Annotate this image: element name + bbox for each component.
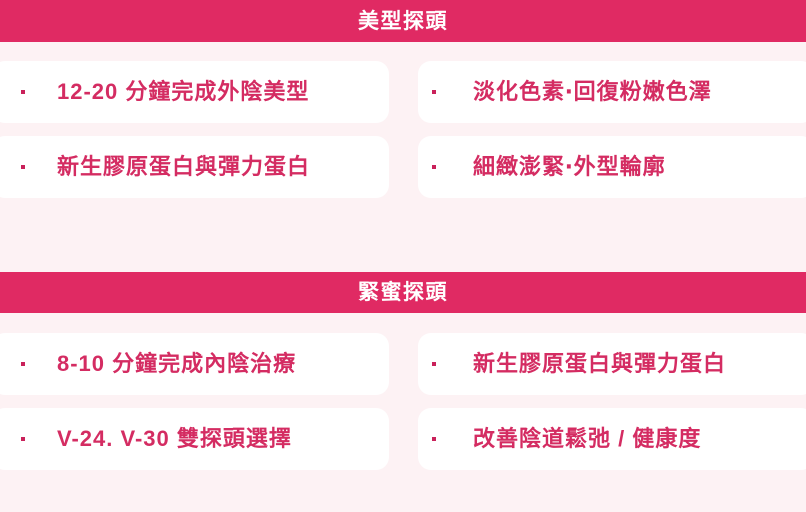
section-header-tightening-probe: 緊蜜探頭 bbox=[0, 272, 806, 313]
bullet-icon bbox=[21, 90, 25, 94]
feature-card-label: 新生膠原蛋白與彈力蛋白 bbox=[473, 352, 726, 376]
feature-card[interactable]: 細緻澎緊‧外型輪廓 bbox=[418, 136, 806, 198]
feature-card-label: 細緻澎緊‧外型輪廓 bbox=[473, 155, 666, 179]
bullet-icon bbox=[21, 165, 25, 169]
feature-card-label: 12-20 分鐘完成外陰美型 bbox=[57, 80, 309, 104]
feature-card[interactable]: 改善陰道鬆弛 / 健康度 bbox=[418, 408, 806, 470]
feature-card-label: 新生膠原蛋白與彈力蛋白 bbox=[57, 155, 310, 179]
feature-card[interactable]: 新生膠原蛋白與彈力蛋白 bbox=[418, 333, 806, 395]
feature-card[interactable]: 淡化色素‧回復粉嫩色澤 bbox=[418, 61, 806, 123]
bullet-icon bbox=[21, 362, 25, 366]
bullet-icon bbox=[432, 437, 436, 441]
feature-comparison-page: 美型探頭 12-20 分鐘完成外陰美型 淡化色素‧回復粉嫩色澤 新生膠原蛋白與彈… bbox=[0, 0, 806, 512]
bullet-icon bbox=[432, 362, 436, 366]
feature-card[interactable]: 8-10 分鐘完成內陰治療 bbox=[0, 333, 389, 395]
feature-card-label: 淡化色素‧回復粉嫩色澤 bbox=[473, 80, 712, 104]
feature-card-label: 8-10 分鐘完成內陰治療 bbox=[57, 352, 296, 376]
section-header-beauty-probe: 美型探頭 bbox=[0, 0, 806, 42]
feature-card-label: 改善陰道鬆弛 / 健康度 bbox=[473, 427, 701, 451]
feature-card[interactable]: 新生膠原蛋白與彈力蛋白 bbox=[0, 136, 389, 198]
section-title: 緊蜜探頭 bbox=[358, 282, 448, 303]
feature-card[interactable]: V-24. V-30 雙探頭選擇 bbox=[0, 408, 389, 470]
feature-card[interactable]: 12-20 分鐘完成外陰美型 bbox=[0, 61, 389, 123]
bullet-icon bbox=[432, 90, 436, 94]
section-title: 美型探頭 bbox=[358, 11, 448, 32]
bullet-icon bbox=[432, 165, 436, 169]
bullet-icon bbox=[21, 437, 25, 441]
feature-card-label: V-24. V-30 雙探頭選擇 bbox=[57, 427, 292, 451]
